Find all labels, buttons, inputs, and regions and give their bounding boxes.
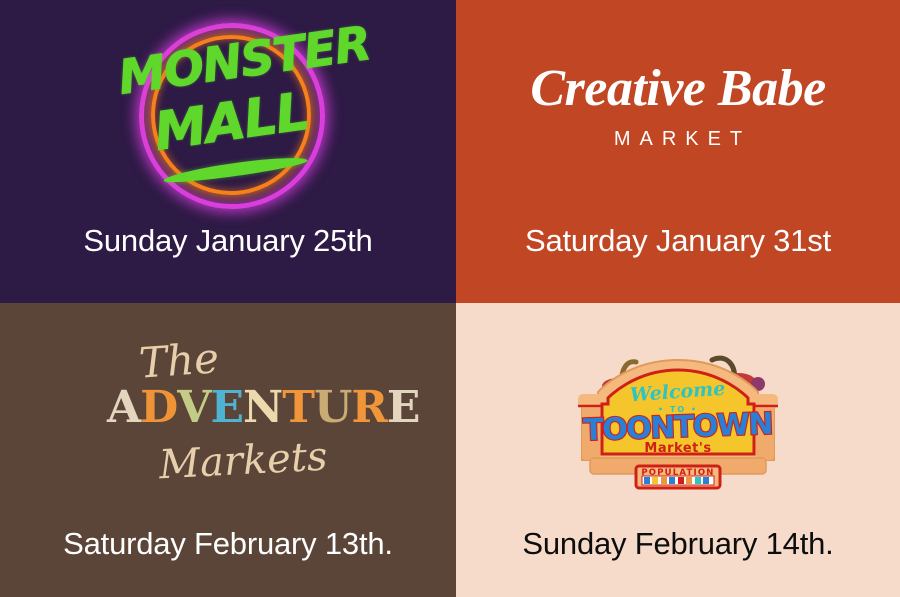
monster-mall-wordmark: MONSTER MALL xyxy=(113,17,343,213)
toontown-subtitle-text: Market's xyxy=(644,441,711,456)
creative-babe-subtitle: MARKET xyxy=(530,128,825,151)
adventure-markets-logo-area: The ADVENTURE Markets xyxy=(0,303,456,526)
adventure-wordmark: ADVENTURE xyxy=(107,382,419,433)
monster-mall-logo: MONSTER MALL xyxy=(113,17,343,213)
creative-babe-title: Creative Babe xyxy=(530,63,825,115)
adventure-letter-5: T xyxy=(282,382,314,433)
toontown-sign-graphic: POPULATION Welcome • TO • xyxy=(562,342,794,492)
card-toontown-markets[interactable]: POPULATION Welcome • TO • xyxy=(456,303,900,597)
date-monster-mall: Sunday January 25th xyxy=(0,223,456,303)
adventure-word-the: The xyxy=(137,333,220,387)
adventure-letter-8: E xyxy=(387,382,420,433)
date-toontown-markets: Sunday February 14th. xyxy=(456,526,900,597)
adventure-letter-3: E xyxy=(210,382,243,433)
creative-babe-logo: Creative Babe MARKET xyxy=(530,63,825,151)
adventure-word-markets: Markets xyxy=(158,433,329,488)
adventure-markets-logo: The ADVENTURE Markets xyxy=(103,334,353,504)
date-creative-babe: Saturday January 31st xyxy=(456,223,900,303)
creative-babe-logo-area: Creative Babe MARKET xyxy=(456,0,900,223)
card-creative-babe-market[interactable]: Creative Babe MARKET Saturday January 31… xyxy=(456,0,900,303)
adventure-letter-2: V xyxy=(177,382,210,433)
card-adventure-markets[interactable]: The ADVENTURE Markets Saturday February … xyxy=(0,303,456,597)
adventure-letter-7: R xyxy=(351,382,387,433)
adventure-letter-6: U xyxy=(314,382,351,433)
card-monster-mall[interactable]: MONSTER MALL Sunday January 25th xyxy=(0,0,456,303)
toontown-markets-logo: POPULATION Welcome • TO • xyxy=(562,342,794,492)
adventure-letter-4: N xyxy=(243,382,282,433)
toontown-logo-area: POPULATION Welcome • TO • xyxy=(456,303,900,526)
adventure-letter-0: A xyxy=(107,382,140,433)
date-adventure-markets: Saturday February 13th. xyxy=(0,526,456,597)
market-cards-grid: MONSTER MALL Sunday January 25th Creativ… xyxy=(0,0,900,597)
adventure-letter-1: D xyxy=(140,382,177,433)
monster-mall-logo-area: MONSTER MALL xyxy=(0,0,456,223)
